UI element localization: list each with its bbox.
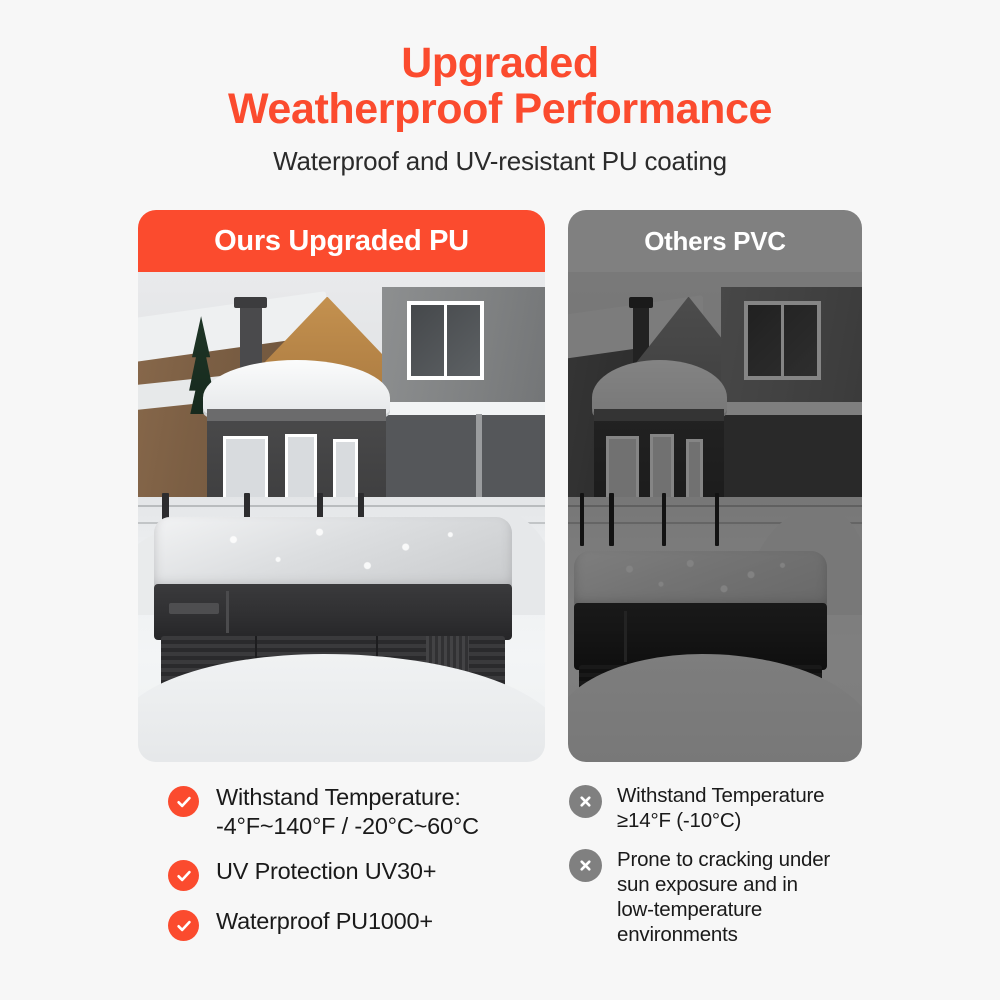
list-item: Withstand Temperature ≥14°F (-10°C) [569, 783, 869, 833]
chimney-cap [234, 297, 267, 309]
feature-text: Withstand Temperature: -4°F~140°F / -20°… [216, 783, 479, 841]
feature-text: UV Protection UV30+ [216, 857, 436, 886]
porch-beam [594, 409, 723, 421]
winter-cabin-scene-grayscale [568, 272, 862, 762]
feature-text: Waterproof PU1000+ [216, 907, 433, 936]
headline-line-2: Weatherproof Performance [0, 86, 1000, 132]
porch-window-right [333, 439, 357, 503]
page-subtitle: Waterproof and UV-resistant PU coating [0, 146, 1000, 177]
panel-header-others: Others PVC [568, 210, 862, 272]
list-item: Prone to cracking under sun exposure and… [569, 847, 869, 947]
comparison-panel-ours: Ours Upgraded PU [138, 210, 545, 762]
fence-post [715, 493, 719, 547]
photo-others [568, 272, 862, 762]
porch-window-right [686, 439, 704, 503]
winter-cabin-scene-color [138, 272, 545, 762]
headline-line-1: Upgraded [401, 39, 598, 87]
check-icon [168, 786, 199, 817]
list-item: Waterproof PU1000+ [168, 907, 560, 941]
fence-post [609, 493, 613, 547]
photo-ours [138, 272, 545, 762]
porch-door [285, 434, 318, 508]
snow-covered-cover-top [574, 551, 827, 608]
check-icon [168, 910, 199, 941]
list-item: UV Protection UV30+ [168, 857, 560, 891]
list-item: Withstand Temperature: -4°F~140°F / -20°… [168, 783, 560, 841]
product-comparison-infographic: Upgraded Weatherproof Performance Waterp… [0, 0, 1000, 1000]
porch-window-left [606, 436, 638, 500]
x-icon [569, 849, 602, 882]
page-title: Upgraded Weatherproof Performance [0, 40, 1000, 132]
house-eave-snow [718, 402, 862, 415]
fence-post [662, 493, 666, 547]
check-icon [168, 860, 199, 891]
upper-window [744, 301, 820, 379]
chimney-cap [629, 297, 653, 309]
feature-text: Withstand Temperature ≥14°F (-10°C) [617, 783, 824, 833]
x-icon [569, 785, 602, 818]
feature-list-others: Withstand Temperature ≥14°F (-10°C) Pron… [569, 783, 869, 961]
upper-window [407, 301, 484, 379]
panel-header-ours: Ours Upgraded PU [138, 210, 545, 272]
house-eave-snow [378, 402, 545, 415]
fence-post [580, 493, 584, 547]
feature-text: Prone to cracking under sun exposure and… [617, 847, 830, 947]
porch-window-left [223, 436, 268, 500]
cover-strap [169, 603, 219, 614]
comparison-panel-others: Others PVC [568, 210, 862, 762]
snow-covered-cover-top [154, 517, 512, 590]
feature-list-ours: Withstand Temperature: -4°F~140°F / -20°… [168, 783, 560, 957]
porch-beam [207, 409, 386, 421]
